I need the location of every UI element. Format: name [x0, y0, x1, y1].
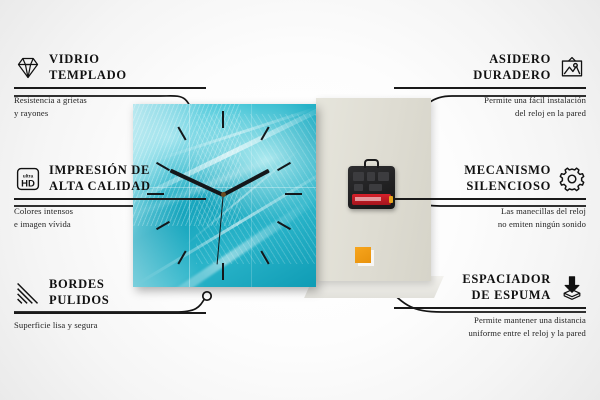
arrow-down-pad-icon — [558, 275, 586, 301]
clock-mechanism — [348, 166, 395, 209]
clock-tick-12 — [222, 111, 224, 128]
foam-spacer-pad — [355, 247, 371, 263]
battery-label — [355, 197, 381, 201]
feature-impresion-alta-calidad: ultra HD IMPRESIÓN DE ALTA CALIDAD Color… — [14, 163, 206, 231]
feature-sub-line1: Permite mantener una distancia — [394, 314, 586, 327]
feature-sub-line2: no emiten ningún sonido — [394, 218, 586, 231]
infographic-stage: VIDRIO TEMPLADO Resistencia a grietas y … — [0, 0, 600, 400]
mechanism-detail — [353, 172, 364, 181]
feature-divider — [14, 198, 206, 200]
feature-divider — [394, 307, 586, 309]
feature-mecanismo-silencioso: MECANISMO SILENCIOSO Las manecillas del … — [394, 163, 586, 231]
polished-edges-icon — [14, 280, 42, 306]
feature-asidero-duradero: ASIDERO DURADERO Permite una fácil insta… — [394, 52, 586, 120]
feature-title-line2: DE ESPUMA — [462, 288, 551, 304]
ultra-hd-badge-icon: ultra HD — [14, 166, 42, 192]
feature-divider — [14, 87, 206, 89]
feature-sub-line2: del reloj en la pared — [394, 107, 586, 120]
glass-pane-seam — [251, 104, 252, 287]
feature-espaciador-de-espuma: ESPACIADOR DE ESPUMA Permite mantener un… — [394, 272, 586, 340]
clock-tick-6 — [222, 263, 224, 280]
feature-sub-line2: uniforme entre el reloj y la pared — [394, 327, 586, 340]
feature-sub-line1: Permite una fácil instalación — [394, 94, 586, 107]
feature-sub-line1: Superficie lisa y segura — [14, 319, 206, 332]
feature-title-line1: VIDRIO — [49, 52, 127, 68]
mechanism-hanging-hook — [364, 159, 379, 168]
ultra-hd-large-text: HD — [21, 178, 35, 189]
feature-title-line2: PULIDOS — [49, 293, 109, 309]
feature-sub-line1: Colores intensos — [14, 205, 206, 218]
feature-title-line2: TEMPLADO — [49, 68, 127, 84]
feature-sub-line2: y rayones — [14, 107, 206, 120]
mechanism-detail — [367, 172, 375, 181]
battery-terminal — [389, 196, 393, 203]
feature-sub-line2: e imagen vívida — [14, 218, 206, 231]
mechanism-detail — [378, 172, 389, 181]
feature-sub-line1: Resistencia a grietas — [14, 94, 206, 107]
feature-title-line2: SILENCIOSO — [464, 179, 551, 195]
clock-battery — [352, 194, 391, 205]
feature-vidrio-templado: VIDRIO TEMPLADO Resistencia a grietas y … — [14, 52, 206, 120]
clock-tick-3 — [285, 193, 302, 195]
feature-title-line1: IMPRESIÓN DE — [49, 163, 151, 179]
feature-title-line2: ALTA CALIDAD — [49, 179, 151, 195]
diamond-icon — [14, 55, 42, 81]
feature-title-line1: MECANISMO — [464, 163, 551, 179]
feature-divider — [394, 87, 586, 89]
gear-icon — [558, 166, 586, 192]
feature-divider — [14, 312, 206, 314]
feature-sub-line1: Las manecillas del reloj — [394, 205, 586, 218]
feature-title-line1: ASIDERO — [473, 52, 551, 68]
clock-center-pin — [221, 192, 226, 197]
mechanism-detail — [354, 184, 363, 191]
feature-title-line1: ESPACIADOR — [462, 272, 551, 288]
feature-title-line2: DURADERO — [473, 68, 551, 84]
picture-frame-hanger-icon — [558, 55, 586, 81]
feature-divider — [394, 198, 586, 200]
feature-title-line1: BORDES — [49, 277, 109, 293]
mechanism-detail — [369, 184, 382, 191]
feature-bordes-pulidos: BORDES PULIDOS Superficie lisa y segura — [14, 277, 206, 332]
